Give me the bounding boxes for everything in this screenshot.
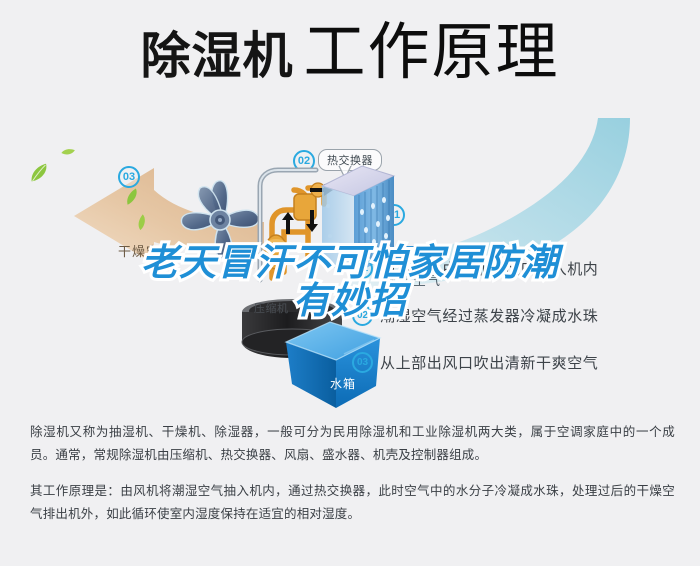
compressor-label: 压缩机 [254, 300, 289, 316]
diagram-illustration: 干燥空气 潮湿空气 03 02 01 热交换器 [0, 108, 700, 408]
page-root: 除湿机工作原理 [0, 0, 700, 566]
page-title: 除湿机工作原理 [0, 22, 700, 84]
leaf-icon [26, 162, 52, 183]
legend-item: 01 潮湿空气由下部进风口吸入机内 [352, 256, 692, 280]
legend-item: 02 潮湿空气经过蒸发器冷凝成水珠 [352, 303, 692, 327]
legend-badge-01: 01 [352, 258, 373, 279]
paragraph-2: 其工作原理是：由风机将潮湿空气抽入机内，通过热交换器，此时空气中的水分子冷凝成水… [30, 479, 675, 525]
legend-badge-03: 03 [352, 352, 373, 373]
paragraph-1: 除湿机又称为抽湿机、干燥机、除湿器，一般可分为民用除湿机和工业除湿机两大类，属于… [30, 420, 675, 466]
legend-text-02: 潮湿空气经过蒸发器冷凝成水珠 [380, 305, 598, 326]
page-title-secondary: 工作原理 [303, 18, 559, 87]
legend-badge-02: 02 [352, 305, 373, 326]
legend-text-01: 潮湿空气由下部进风口吸入机内 [380, 258, 598, 279]
legend-item: 03 从上部出风口吹出清新干爽空气 [352, 350, 692, 374]
body-copy: 除湿机又称为抽湿机、干燥机、除湿器，一般可分为民用除湿机和工业除湿机两大类，属于… [30, 420, 675, 539]
legend-text-03: 从上部出风口吹出清新干爽空气 [380, 352, 598, 373]
legend-list: 01 潮湿空气由下部进风口吸入机内 02 潮湿空气经过蒸发器冷凝成水珠 03 从… [352, 256, 692, 397]
page-title-primary: 除湿机 [140, 28, 293, 84]
badge-03-dry-air: 03 [118, 166, 140, 188]
